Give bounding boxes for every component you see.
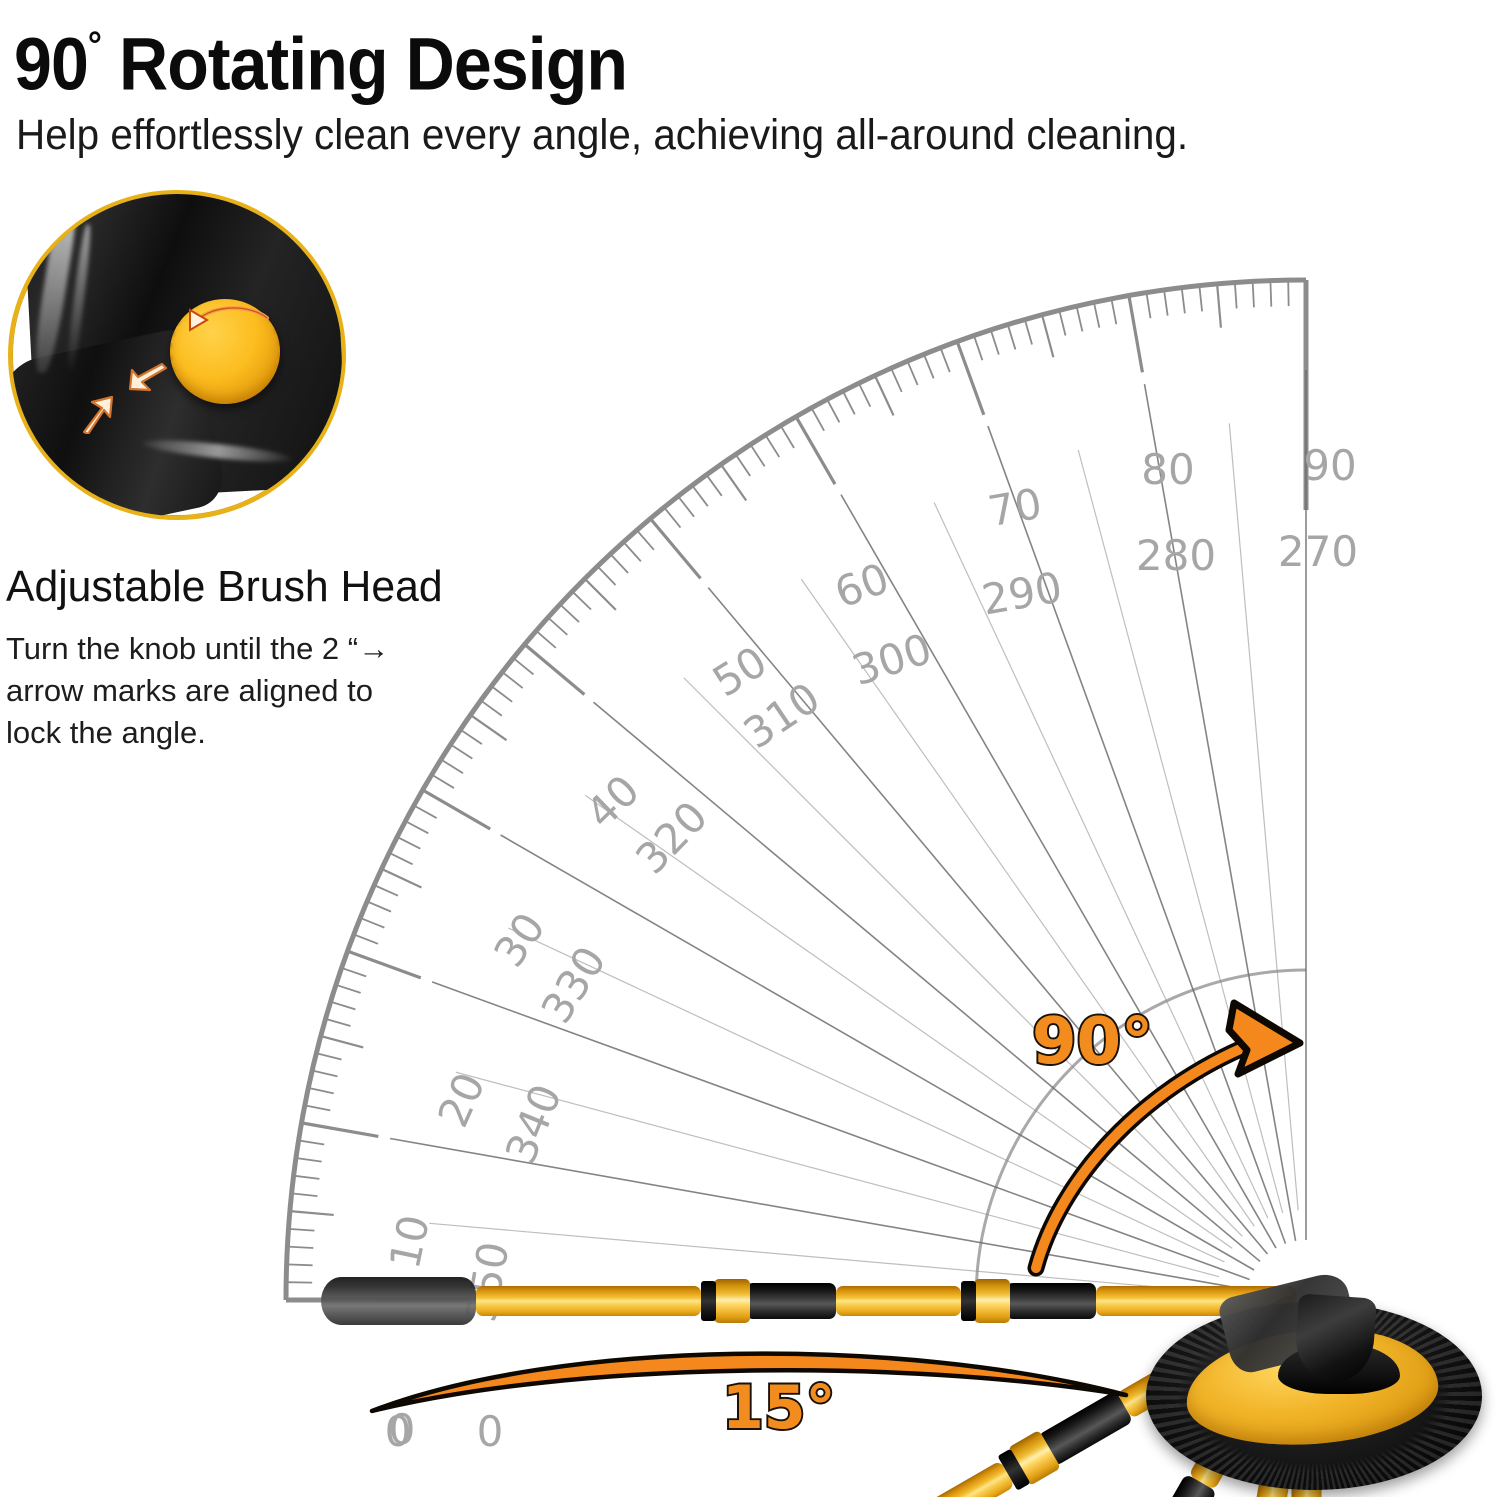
pole-segment-ring — [974, 1279, 1010, 1323]
annotation-15-degrees: 15° — [722, 1378, 836, 1438]
pole-segment-blk — [746, 1283, 836, 1319]
degree-label-outer-10: 10 — [384, 1211, 436, 1272]
pole-segment-ring — [714, 1279, 750, 1323]
infographic-canvas: 90° Rotating Design Help effortlessly cl… — [0, 0, 1497, 1497]
pole-segment-blk — [1006, 1283, 1096, 1319]
degree-label-inner-280: 280 — [1136, 535, 1216, 577]
pole-segment-tube — [476, 1286, 701, 1316]
annotation-90-degrees: 90° — [1032, 1010, 1153, 1074]
pole-segment-collarblk — [701, 1281, 716, 1321]
degree-label-outer-90: 90 — [1303, 445, 1356, 487]
pole-segment-grip — [321, 1277, 476, 1325]
degree-label-zero-1: 0 — [477, 1411, 504, 1453]
pole-segment-collarblk — [961, 1281, 976, 1321]
degree-label-inner-270: 270 — [1278, 531, 1358, 573]
degree-label-outer-80: 80 — [1141, 449, 1194, 491]
brush-head — [1146, 1258, 1482, 1490]
degree-label-outer-70: 70 — [985, 483, 1045, 534]
degree-label-zero-0: 0 — [385, 1411, 412, 1453]
pole-segment-tube — [836, 1286, 961, 1316]
